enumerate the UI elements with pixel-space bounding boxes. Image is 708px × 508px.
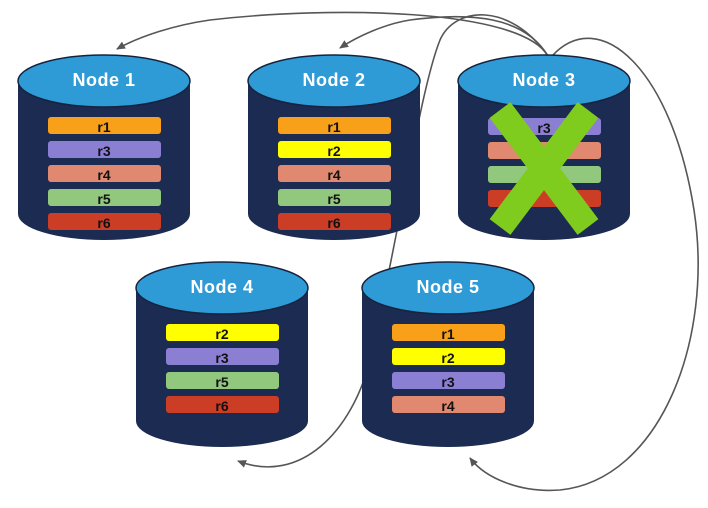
database-node-4[interactable]: Node 4r2r3r5r6: [136, 262, 308, 447]
database-node-5[interactable]: Node 5r1r2r3r4: [362, 262, 534, 447]
database-node-1[interactable]: Node 1r1r3r4r5r6: [18, 55, 190, 240]
record-bar-r1: [48, 117, 161, 134]
record-bar-r6: [488, 190, 601, 207]
record-bar-r6: [166, 396, 279, 413]
record-bar-r2: [278, 141, 391, 158]
cylinder-top: [458, 55, 630, 107]
record-bar-r3: [488, 118, 601, 135]
arrow-node3-to-node2: [340, 17, 548, 56]
record-bar-r6: [48, 213, 161, 230]
cylinder-top: [18, 55, 190, 107]
diagram-canvas: Node 1r1r3r4r5r6Node 2r1r2r4r5r6Node 3r3…: [0, 0, 708, 508]
cylinder-top: [362, 262, 534, 314]
record-bar-r6: [278, 213, 391, 230]
record-bar-r5: [166, 372, 279, 389]
record-bar-r5: [488, 166, 601, 183]
record-bar-r5: [278, 189, 391, 206]
record-bar-r3: [166, 348, 279, 365]
record-bar-r3: [48, 141, 161, 158]
record-bar-r5: [48, 189, 161, 206]
record-bar-r4: [48, 165, 161, 182]
database-node-2[interactable]: Node 2r1r2r4r5r6: [248, 55, 420, 240]
record-bar-r4: [392, 396, 505, 413]
record-bar-r2: [166, 324, 279, 341]
record-bar-r4: [278, 165, 391, 182]
record-bar-r3: [392, 372, 505, 389]
cylinder-top: [136, 262, 308, 314]
record-bar-r2: [392, 348, 505, 365]
record-bar-r1: [278, 117, 391, 134]
cylinder-top: [248, 55, 420, 107]
record-bar-r4: [488, 142, 601, 159]
record-bar-r1: [392, 324, 505, 341]
database-node-3[interactable]: Node 3r3: [458, 55, 630, 240]
